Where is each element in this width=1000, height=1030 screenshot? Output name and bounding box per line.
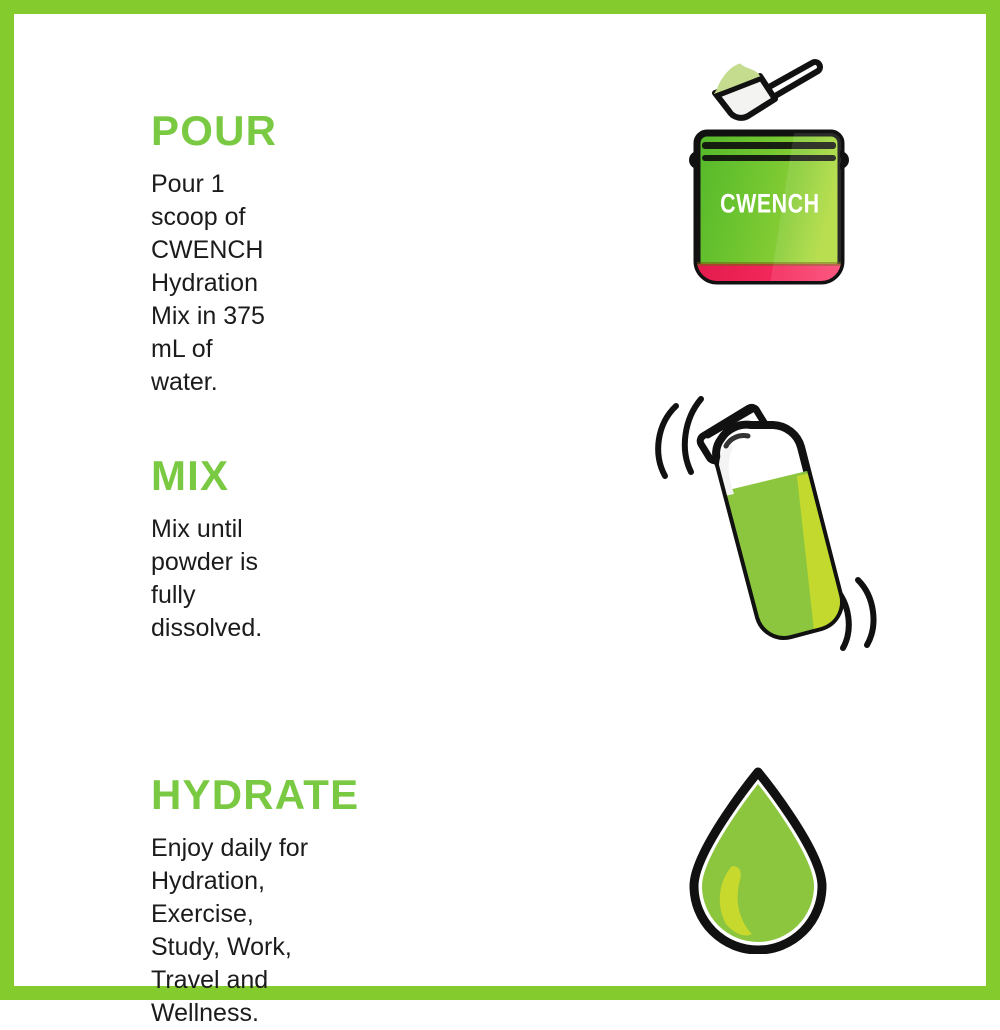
step-pour-body: Pour 1 scoop of CWENCH Hydration Mix in … <box>151 168 277 399</box>
step-mix-heading: MIX <box>151 455 262 497</box>
instructions-poster: POUR Pour 1 scoop of CWENCH Hydration Mi… <box>0 0 1000 1000</box>
jar-container-icon: CWENCH <box>689 133 859 294</box>
step-pour-text-block: POUR Pour 1 scoop of CWENCH Hydration Mi… <box>151 110 277 399</box>
poster-inner: POUR Pour 1 scoop of CWENCH Hydration Mi… <box>14 14 986 986</box>
step-hydrate-heading: HYDRATE <box>151 774 359 816</box>
step-hydrate-text-block: HYDRATE Enjoy daily for Hydration, Exerc… <box>151 774 359 1030</box>
step-mix-body: Mix until powder is fully dissolved. <box>151 513 262 645</box>
motion-lines-left-icon <box>658 399 701 476</box>
step-mix-text-block: MIX Mix until powder is fully dissolved. <box>151 455 262 645</box>
jar-brand-label: CWENCH <box>720 189 819 219</box>
step-pour-heading: POUR <box>151 110 277 152</box>
measuring-scoop-icon <box>715 62 820 118</box>
step-hydrate-body: Enjoy daily for Hydration, Exercise, Stu… <box>151 832 359 1030</box>
jar-with-scoop-icon: CWENCH <box>674 36 904 306</box>
shaking-bottle-icon <box>629 384 899 664</box>
water-droplet-icon <box>674 754 874 954</box>
